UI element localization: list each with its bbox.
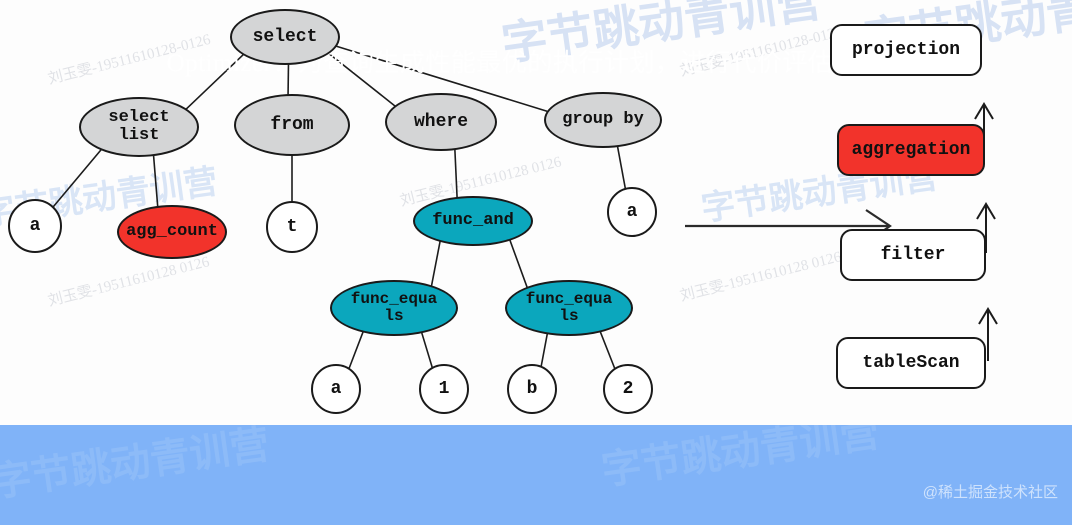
ast-edge-func_and-to-func_equals_r	[509, 236, 529, 290]
ast-node-label: a	[627, 203, 638, 222]
ast-node-label: group by	[562, 111, 644, 129]
plan-box-label: projection	[852, 40, 960, 60]
ast-edge-select_list-to-leaf_a1	[52, 146, 104, 208]
ast-node-leaf_t: t	[266, 201, 318, 253]
caption-bar: 字节跳动青训营 字节跳动青训营	[0, 425, 1072, 525]
plan-box-projection: projection	[830, 24, 982, 76]
ast-node-label: func_equa ls	[351, 291, 437, 325]
ast-node-label: t	[287, 218, 298, 237]
ast-node-group_by: group by	[544, 92, 662, 148]
bar-watermark: 字节跳动青训营	[597, 425, 882, 496]
ast-node-label: select	[253, 28, 318, 47]
community-watermark: @稀土掘金技术社区	[923, 481, 1058, 502]
plan-box-tableScan: tableScan	[836, 337, 986, 389]
ast-edge-func_equals_l-to-leaf_a3	[349, 329, 365, 370]
ast-node-label: func_equa ls	[526, 291, 612, 325]
ast-edge-func_equals_l-to-leaf_1	[421, 330, 433, 369]
ast-node-label: from	[270, 116, 313, 135]
ast-edge-where-to-func_and	[455, 147, 457, 198]
plan-box-label: tableScan	[862, 353, 959, 373]
ast-node-leaf_1: 1	[419, 364, 469, 414]
ast-node-label: a	[30, 217, 41, 236]
bar-watermark: 字节跳动青训营	[0, 425, 273, 508]
plan-box-filter: filter	[840, 229, 986, 281]
ast-edge-group_by-to-leaf_a2	[617, 145, 625, 190]
ast-node-label: 2	[623, 380, 634, 399]
ast-node-from: from	[234, 94, 350, 156]
ast-node-leaf_b: b	[507, 364, 557, 414]
ast-node-select_list: select list	[79, 97, 199, 157]
ast-node-label: func_and	[432, 212, 514, 230]
ast-node-func_and: func_and	[413, 196, 533, 246]
plan-box-aggregation: aggregation	[837, 124, 985, 176]
ast-edge-func_equals_r-to-leaf_2	[599, 329, 615, 370]
plan-box-label: aggregation	[852, 140, 971, 160]
ast-node-leaf_a3: a	[311, 364, 361, 414]
ast-node-label: agg_count	[126, 223, 218, 241]
ast-node-agg_count: agg_count	[117, 205, 227, 259]
ast-edge-func_and-to-func_equals_l	[431, 238, 441, 288]
ast-node-where: where	[385, 93, 497, 151]
plan-box-label: filter	[881, 245, 946, 265]
ast-edge-select_list-to-agg_count	[153, 153, 157, 207]
ast-node-func_equals_r: func_equa ls	[505, 280, 633, 336]
ast-node-leaf_a1: a	[8, 199, 62, 253]
ast-node-func_equals_l: func_equa ls	[330, 280, 458, 336]
ast-node-select: select	[230, 9, 340, 65]
ast-node-label: 1	[439, 380, 450, 399]
ast-node-label: a	[331, 380, 342, 399]
ast-edge-func_equals_r-to-leaf_b	[541, 331, 548, 367]
screenshot-root: 字节跳动青训营 字节跳动青训营 字节跳动青训营 字节跳动青训营 刘玉雯-1951…	[0, 0, 1072, 525]
ast-node-label: select list	[108, 109, 169, 145]
ast-node-leaf_2: 2	[603, 364, 653, 414]
ast-node-leaf_a2: a	[607, 187, 657, 237]
ast-node-label: b	[527, 380, 538, 399]
ast-node-label: where	[414, 113, 468, 132]
